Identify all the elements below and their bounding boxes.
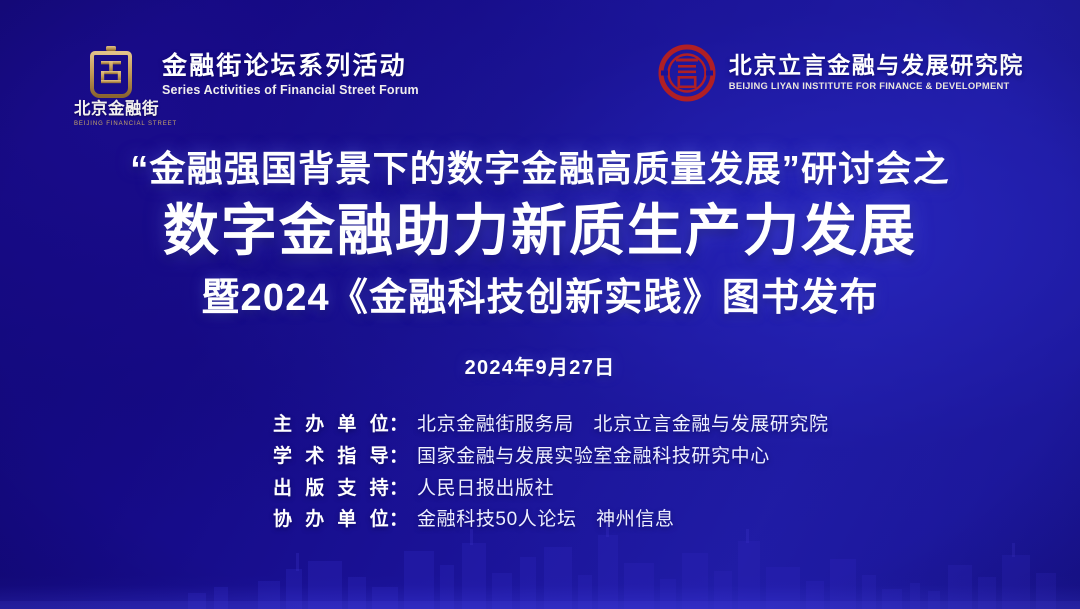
bfs-title-en: Series Activities of Financial Street Fo… xyxy=(162,83,419,97)
title-line-1: “金融强国背景下的数字金融高质量发展”研讨会之 xyxy=(0,146,1080,191)
credit-value: 金融科技50人论坛 神州信息 xyxy=(417,509,807,532)
beijing-financial-street-seal-icon xyxy=(88,46,134,98)
beijing-financial-street-logo: 北京金融街 BEIJING FINANCIAL STREET 金融街论坛系列活动… xyxy=(74,42,419,127)
event-date: 2024年9月27日 xyxy=(0,351,1080,380)
liyan-name-en: BEIJING LIYAN INSTITUTE FOR FINANCE & DE… xyxy=(729,80,1024,91)
credit-label: 出版支持 xyxy=(273,478,389,501)
bfs-mark-en: BEIJING FINANCIAL STREET xyxy=(74,121,148,127)
credit-label: 主办单位 xyxy=(273,414,389,437)
bfs-wordmark: 金融街论坛系列活动 Series Activities of Financial… xyxy=(162,42,419,97)
event-poster: 北京金融街 BEIJING FINANCIAL STREET 金融街论坛系列活动… xyxy=(0,0,1080,609)
liyan-wordmark: 北京立言金融与发展研究院 BEIJING LIYAN INSTITUTE FOR… xyxy=(729,53,1024,93)
bfs-mark-block: 北京金融街 BEIJING FINANCIAL STREET xyxy=(74,42,148,127)
credit-colon: ： xyxy=(389,414,408,437)
credit-colon: ： xyxy=(389,509,408,532)
credit-colon: ： xyxy=(389,478,408,501)
liyan-institute-logo: 北京立言金融与发展研究院 BEIJING LIYAN INSTITUTE FOR… xyxy=(658,44,1024,102)
credit-value: 国家金融与发展实验室金融科技研究中心 xyxy=(417,446,807,469)
credit-colon: ： xyxy=(389,446,408,469)
credit-row: 主办单位 ： 北京金融街服务局 北京立言金融与发展研究院 xyxy=(273,414,807,437)
title-line-3: 暨2024《金融科技创新实践》图书发布 xyxy=(0,275,1080,321)
poster-header: 北京金融街 BEIJING FINANCIAL STREET 金融街论坛系列活动… xyxy=(0,40,1080,132)
credit-label: 学术指导 xyxy=(273,446,389,469)
liyan-name-cn: 北京立言金融与发展研究院 xyxy=(729,53,1024,78)
credit-row: 出版支持 ： 人民日报出版社 xyxy=(273,478,807,501)
title-line-2: 数字金融助力新质生产力发展 xyxy=(0,199,1080,265)
bfs-mark-cn: 北京金融街 xyxy=(74,101,148,118)
liyan-institute-round-seal-icon xyxy=(658,44,716,102)
horizon-glow xyxy=(0,575,1080,609)
credit-row: 学术指导 ： 国家金融与发展实验室金融科技研究中心 xyxy=(273,446,807,469)
bfs-title-cn: 金融街论坛系列活动 xyxy=(162,52,419,80)
organizer-credits: 主办单位 ： 北京金融街服务局 北京立言金融与发展研究院 学术指导 ： 国家金融… xyxy=(0,414,1080,541)
credit-value: 北京金融街服务局 北京立言金融与发展研究院 xyxy=(417,414,829,437)
credit-label: 协办单位 xyxy=(273,509,389,532)
poster-title-block: “金融强国背景下的数字金融高质量发展”研讨会之 数字金融助力新质生产力发展 暨2… xyxy=(0,146,1080,380)
credit-row: 协办单位 ： 金融科技50人论坛 神州信息 xyxy=(273,509,807,532)
credit-value: 人民日报出版社 xyxy=(417,478,807,501)
